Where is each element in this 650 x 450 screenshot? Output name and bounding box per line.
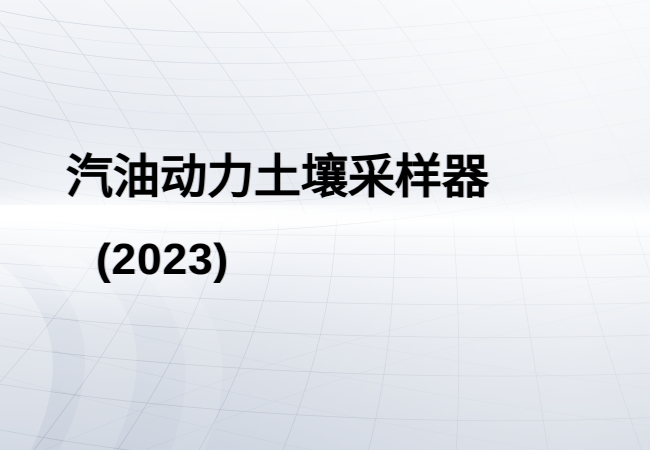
mesh-lower-grid-longitude (0, 214, 650, 450)
background-gradient (0, 0, 650, 450)
mesh-bottom-left-ribbons (0, 250, 223, 450)
mesh-lower-grid-latitude (0, 228, 650, 450)
mesh-upper-curves (0, 0, 650, 232)
horizontal-light-streak (0, 196, 520, 236)
slide-title-year: (2023) (96, 232, 229, 288)
perspective-mesh-background (0, 0, 650, 450)
background-bottom-shade (0, 0, 650, 450)
mesh-upper-fine-lines (0, 9, 650, 217)
slide-title-block: 汽油动力土壤采样器 (2023) (0, 0, 650, 450)
background-horizontal-wash (0, 0, 650, 450)
slide-title-main: 汽油动力土壤采样器 (66, 148, 489, 206)
title-slide: 汽油动力土壤采样器 (2023) (0, 0, 650, 450)
left-glow-highlight (0, 120, 300, 320)
mesh-lower-diagonal-bands (0, 266, 650, 450)
horizontal-light-streak-thin (0, 205, 650, 221)
